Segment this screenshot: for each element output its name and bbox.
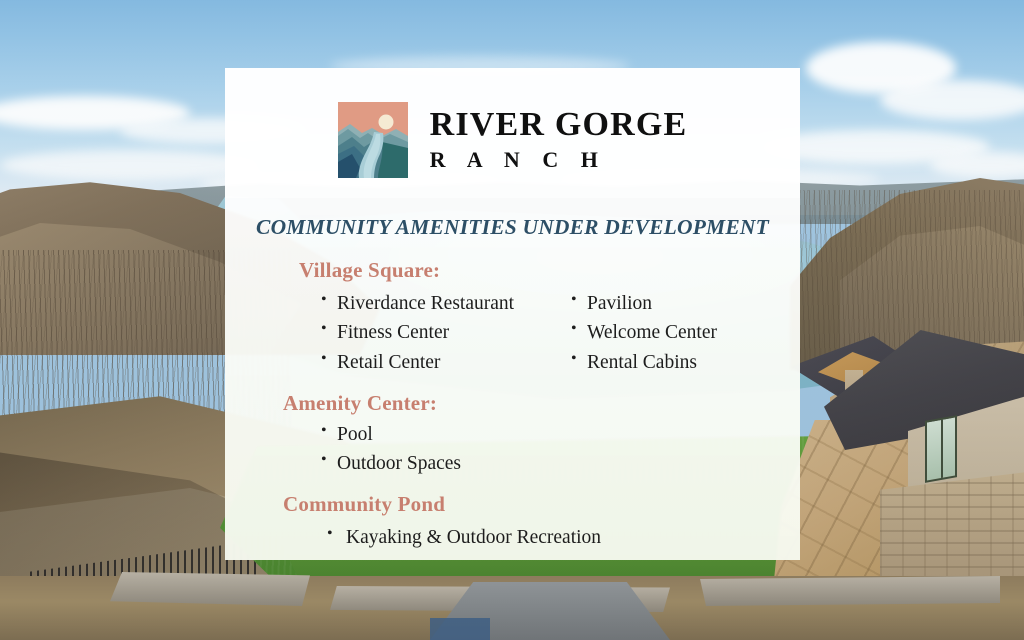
list-item: Kayaking & Outdoor Recreation bbox=[327, 523, 783, 552]
brand-lockup: RIVER GORGE R A N C H bbox=[225, 102, 800, 178]
amenities-card: RIVER GORGE R A N C H COMMUNITY AMENITIE… bbox=[225, 68, 800, 560]
group-heading-village-square: Village Square: bbox=[299, 258, 783, 283]
list-item: Retail Center bbox=[321, 348, 549, 377]
brand-title: RIVER GORGE bbox=[430, 107, 688, 143]
group-heading-amenity-center: Amenity Center: bbox=[283, 391, 783, 416]
village-square-column-right: Pavilion Welcome Center Rental Cabins bbox=[571, 289, 761, 377]
village-square-column-left: Riverdance Restaurant Fitness Center Ret… bbox=[321, 289, 549, 377]
cloud bbox=[0, 150, 260, 180]
amenity-building-window bbox=[925, 415, 957, 483]
group-amenity-center: Amenity Center: Pool Outdoor Spaces bbox=[283, 391, 783, 479]
list-item: Rental Cabins bbox=[571, 348, 761, 377]
list-item: Riverdance Restaurant bbox=[321, 289, 549, 318]
list-item: Fitness Center bbox=[321, 318, 549, 347]
list-item: Pavilion bbox=[571, 289, 761, 318]
group-heading-community-pond: Community Pond bbox=[283, 492, 783, 517]
river-gorge-landscape-icon bbox=[338, 102, 408, 178]
page-title: COMMUNITY AMENITIES UNDER DEVELOPMENT bbox=[225, 215, 800, 240]
amenities-content: Village Square: Riverdance Restaurant Fi… bbox=[283, 258, 783, 553]
group-community-pond: Community Pond Kayaking & Outdoor Recrea… bbox=[283, 492, 783, 552]
slide-canvas: RIVER GORGE R A N C H COMMUNITY AMENITIE… bbox=[0, 0, 1024, 640]
amenity-center-list: Pool Outdoor Spaces bbox=[321, 420, 783, 479]
list-item: Outdoor Spaces bbox=[321, 449, 783, 478]
brand-subtitle: R A N C H bbox=[430, 147, 688, 173]
village-square-columns: Riverdance Restaurant Fitness Center Ret… bbox=[321, 285, 783, 377]
concrete-curb bbox=[110, 572, 310, 606]
list-item: Welcome Center bbox=[571, 318, 761, 347]
concrete-curb bbox=[700, 576, 1000, 606]
blue-tarp bbox=[430, 618, 490, 640]
group-village-square: Village Square: Riverdance Restaurant Fi… bbox=[283, 258, 783, 377]
community-pond-list: Kayaking & Outdoor Recreation bbox=[327, 523, 783, 552]
list-item: Pool bbox=[321, 420, 783, 449]
